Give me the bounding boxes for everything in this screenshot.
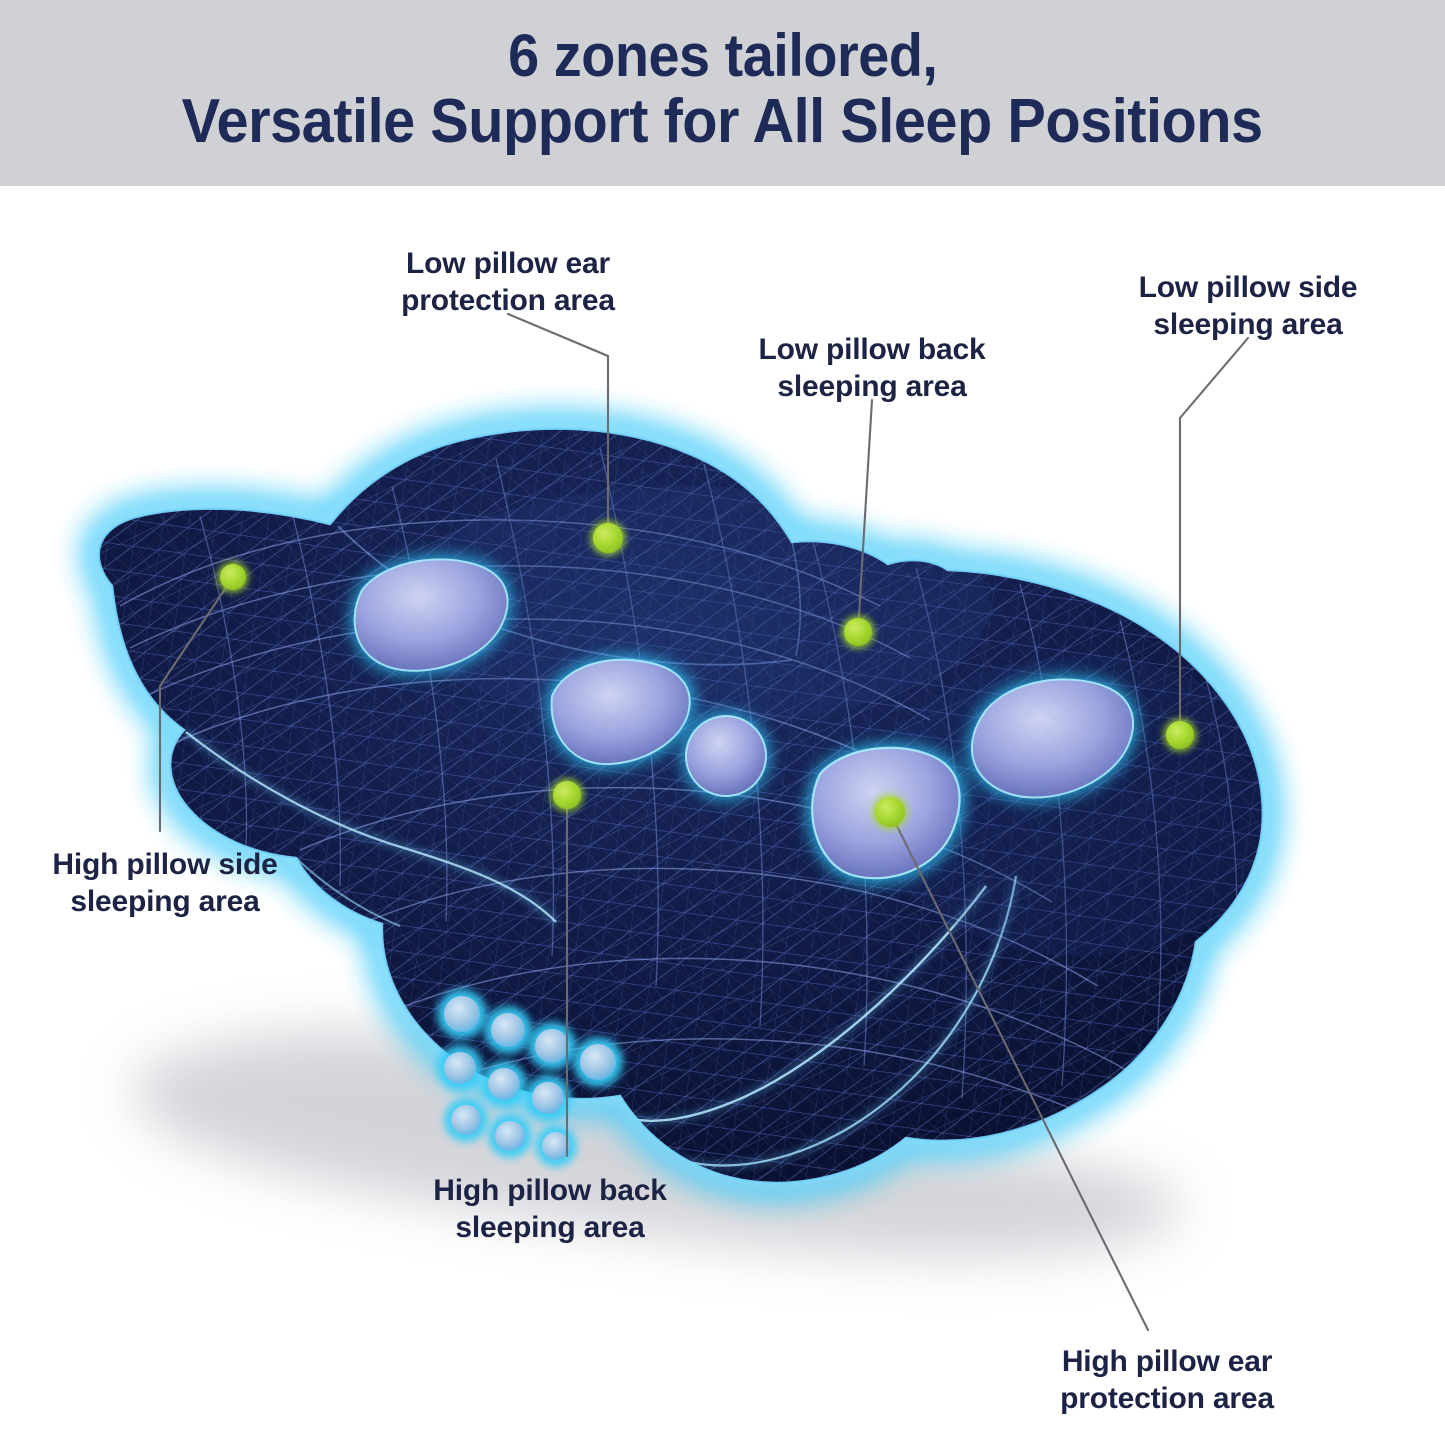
callout-line-1: High pillow back xyxy=(395,1173,705,1210)
marker-high-pillow-back-sleeping[interactable] xyxy=(550,778,584,812)
header-banner: 6 zones tailored, Versatile Support for … xyxy=(0,0,1445,186)
dimple xyxy=(488,1114,532,1158)
callout-line-1: High pillow side xyxy=(10,847,320,884)
callout-low-pillow-back-sleeping: Low pillow back sleeping area xyxy=(722,332,1022,405)
dimple xyxy=(444,1098,488,1142)
callout-line-2: sleeping area xyxy=(1098,307,1398,344)
callout-line-1: Low pillow back xyxy=(722,332,1022,369)
marker-low-pillow-back-sleeping[interactable] xyxy=(841,615,875,649)
marker-high-pillow-ear-protection[interactable] xyxy=(872,794,908,830)
dimple xyxy=(573,1037,623,1087)
callout-high-pillow-back-sleeping: High pillow back sleeping area xyxy=(395,1173,705,1246)
dimple xyxy=(437,1045,483,1091)
callout-line-1: Low pillow ear xyxy=(358,246,658,283)
callout-line-1: High pillow ear xyxy=(1012,1344,1322,1381)
dimple xyxy=(535,1125,577,1167)
dimple xyxy=(528,1022,576,1070)
callout-line-2: protection area xyxy=(358,283,658,320)
marker-low-pillow-ear-protection[interactable] xyxy=(590,520,626,556)
callout-high-pillow-side-sleeping: High pillow side sleeping area xyxy=(10,847,320,920)
recess-centre-small-pad xyxy=(682,712,770,800)
callout-line-1: Low pillow side xyxy=(1098,270,1398,307)
callout-line-2: sleeping area xyxy=(10,884,320,921)
diagram-stage: Low pillow ear protection area Low pillo… xyxy=(0,186,1445,1435)
callout-line-2: sleeping area xyxy=(722,369,1022,406)
marker-high-pillow-side-sleeping[interactable] xyxy=(217,561,249,593)
callout-low-pillow-side-sleeping: Low pillow side sleeping area xyxy=(1098,270,1398,343)
dimple xyxy=(484,1006,532,1054)
callout-high-pillow-ear-protection: High pillow ear protection area xyxy=(1012,1344,1322,1417)
header-title-line-2: Versatile Support for All Sleep Position… xyxy=(182,89,1263,156)
callout-line-2: protection area xyxy=(1012,1381,1322,1418)
dimple xyxy=(481,1061,527,1107)
callout-line-2: sleeping area xyxy=(395,1210,705,1247)
header-title-line-1: 6 zones tailored, xyxy=(508,24,937,89)
marker-low-pillow-side-sleeping[interactable] xyxy=(1163,718,1197,752)
dimple xyxy=(525,1075,571,1121)
dimple xyxy=(437,989,487,1039)
callout-low-pillow-ear-protection: Low pillow ear protection area xyxy=(358,246,658,319)
